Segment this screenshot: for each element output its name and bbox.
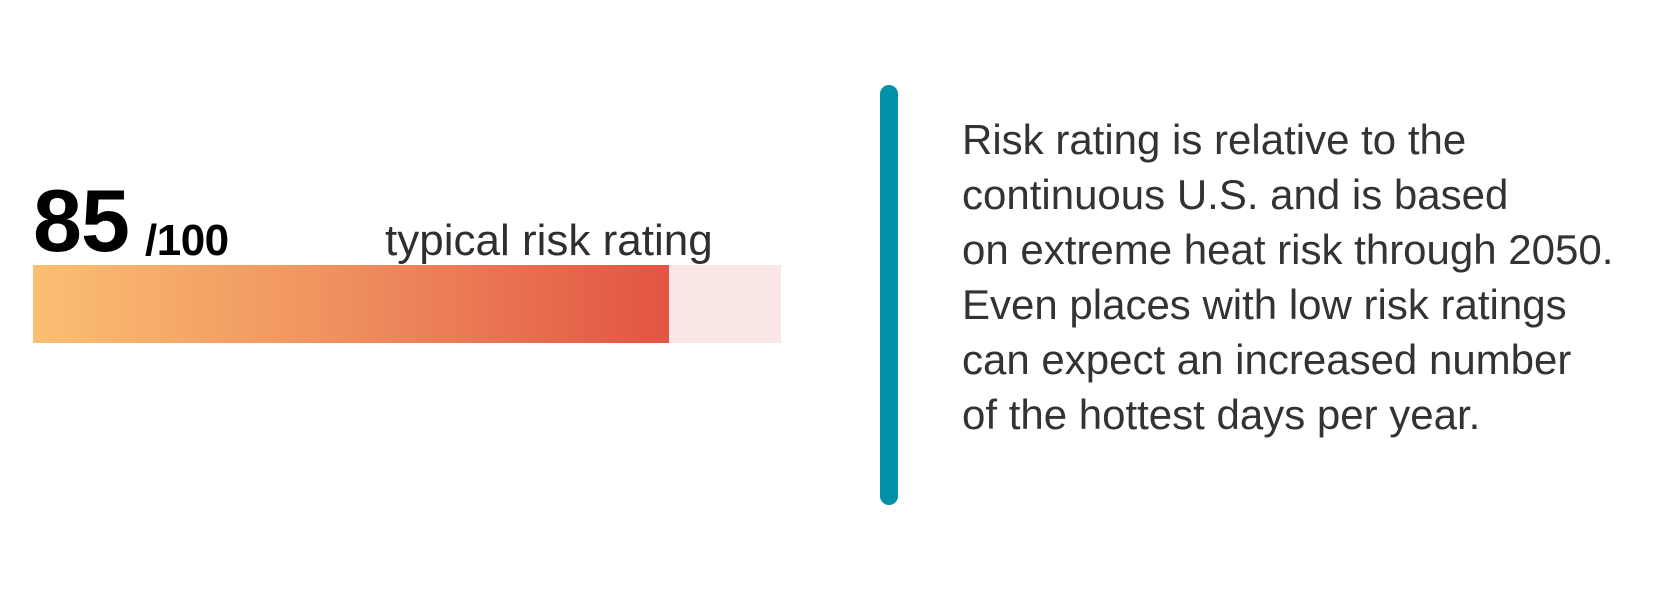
risk-rating-widget: 85 /100 typical risk rating Risk rating … [0, 0, 1680, 600]
description-line: Risk rating is relative to the [962, 112, 1642, 167]
risk-meter-track [33, 265, 781, 343]
description-text: Risk rating is relative to the continuou… [962, 112, 1642, 442]
description-line: Even places with low risk ratings [962, 277, 1642, 332]
score-caption: typical risk rating [385, 219, 713, 263]
risk-meter-fill [33, 265, 669, 343]
description-line: on extreme heat risk through 2050. [962, 222, 1642, 277]
description-line: can expect an increased number [962, 332, 1642, 387]
score-denominator: /100 [145, 219, 229, 263]
score-panel: 85 /100 typical risk rating [33, 160, 781, 343]
description-line: of the hottest days per year. [962, 387, 1642, 442]
description-line: continuous U.S. and is based [962, 167, 1642, 222]
accent-rule [880, 85, 898, 505]
score-value: 85 [33, 177, 129, 265]
score-row: 85 /100 typical risk rating [33, 160, 781, 265]
